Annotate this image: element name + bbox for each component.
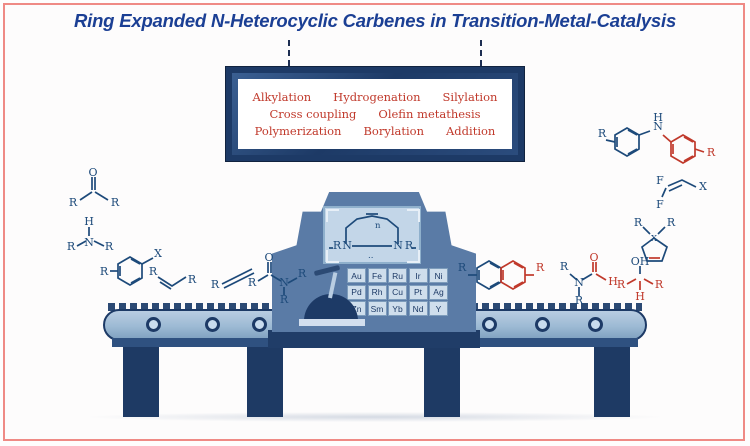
reaction-hydrogenation: Hydrogenation: [333, 90, 420, 104]
metal-cell-au[interactable]: Au: [347, 268, 366, 283]
conveyor-leg: [594, 347, 630, 417]
conveyor-leg: [123, 347, 159, 417]
reaction-alkylation: Alkylation: [253, 90, 312, 104]
reaction-addition: Addition: [446, 124, 495, 138]
metal-cell-yb[interactable]: Yb: [388, 301, 407, 316]
screen-corner-icon: [407, 209, 420, 222]
metal-cell-ir[interactable]: Ir: [409, 268, 428, 283]
reaction-row-2: Cross coupling Olefin metathesis: [269, 107, 480, 121]
screen-corner-icon: [326, 209, 339, 222]
dashed-connector-left: [288, 40, 290, 66]
metal-cell-pd[interactable]: Pd: [347, 285, 366, 300]
screen-corner-icon: [326, 250, 339, 263]
belt-roller: [252, 317, 267, 332]
reaction-silylation: Silylation: [443, 90, 498, 104]
belt-roller: [146, 317, 161, 332]
screen-corner-icon: [407, 250, 420, 263]
machine-base: [268, 330, 480, 348]
metal-cell-pt[interactable]: Pt: [409, 285, 428, 300]
metal-cell-rh[interactable]: Rh: [368, 285, 387, 300]
belt-roller: [482, 317, 497, 332]
page-title: Ring Expanded N-Heterocyclic Carbenes in…: [0, 10, 750, 32]
belt-roller: [535, 317, 550, 332]
graphical-abstract: Ring Expanded N-Heterocyclic Carbenes in…: [0, 0, 750, 446]
reaction-row-3: Polymerization Borylation Addition: [255, 124, 496, 138]
metal-cell-y[interactable]: Y: [429, 301, 448, 316]
conveyor-leg: [424, 347, 460, 417]
lever-plate: [299, 319, 365, 326]
reaction-polymerization: Polymerization: [255, 124, 342, 138]
reaction-olefin-metathesis: Olefin metathesis: [378, 107, 480, 121]
metal-cell-ni[interactable]: Ni: [429, 268, 448, 283]
reaction-borylation: Borylation: [363, 124, 424, 138]
reaction-banner: Alkylation Hydrogenation Silylation Cros…: [238, 79, 512, 149]
dashed-connector-right: [480, 40, 482, 66]
metal-cell-cu[interactable]: Cu: [388, 285, 407, 300]
floor-shadow: [90, 412, 660, 422]
reaction-row-1: Alkylation Hydrogenation Silylation: [253, 90, 498, 104]
metal-cell-nd[interactable]: Nd: [409, 301, 428, 316]
reaction-cross-coupling: Cross coupling: [269, 107, 356, 121]
conveyor-leg: [247, 347, 283, 417]
metal-cell-ru[interactable]: Ru: [388, 268, 407, 283]
metal-cell-fe[interactable]: Fe: [368, 268, 387, 283]
metal-grid: Au Fe Ru Ir Ni Pd Rh Cu Pt Ag Zn Sm Yb N…: [347, 268, 448, 316]
belt-roller: [205, 317, 220, 332]
metal-cell-ag[interactable]: Ag: [429, 285, 448, 300]
belt-roller: [588, 317, 603, 332]
metal-cell-sm[interactable]: Sm: [368, 301, 387, 316]
